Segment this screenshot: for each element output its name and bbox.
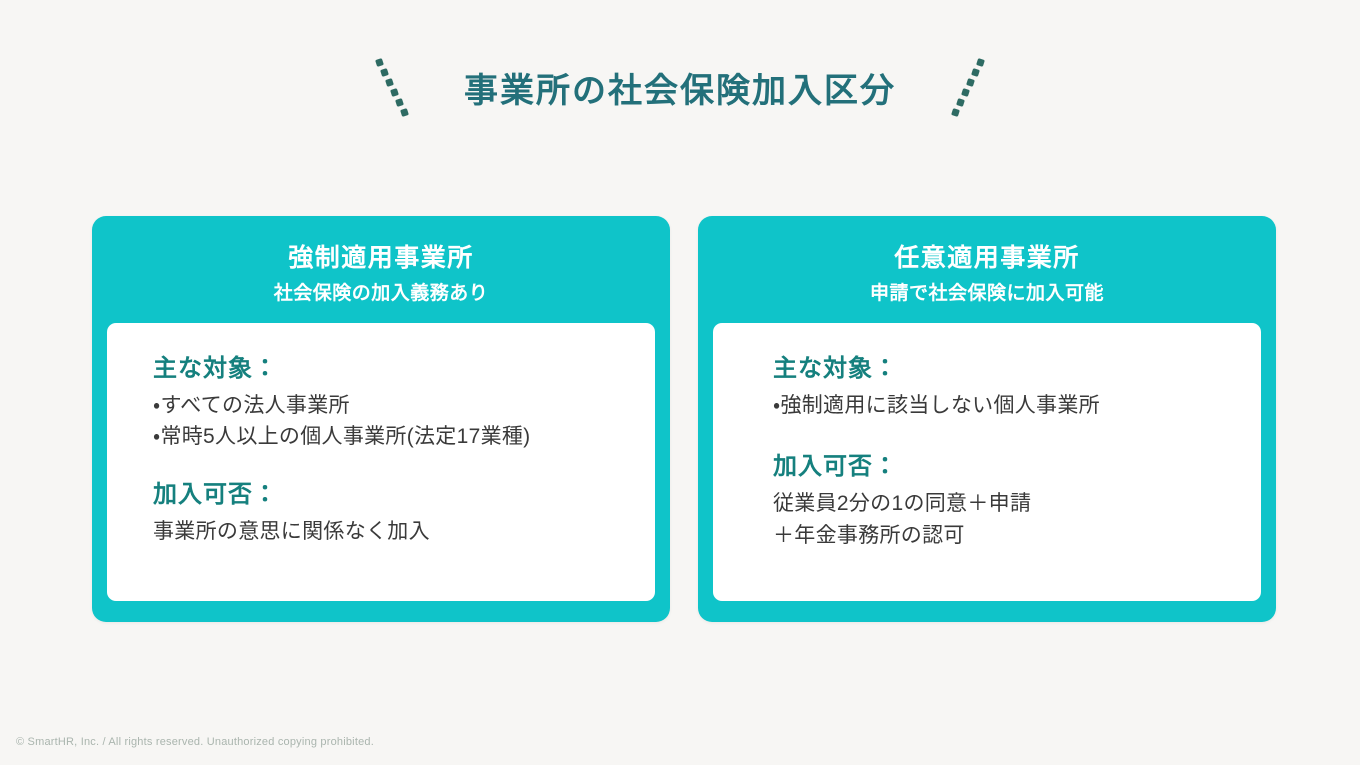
page-title: 事業所の社会保険加入区分 [464, 71, 896, 112]
slide-canvas: 事業所の社会保険加入区分 強制適用事業所 社会保険の加入義務あり 主な対象： [0, 0, 1360, 765]
section-line: ・常時5人以上の個人事業所(法定17業種) [153, 421, 655, 453]
dotted-diagonal-right-icon [942, 57, 988, 125]
section-eligibility: 加入可否： 従業員2分の1の同意＋申請 ＋年金事務所の認可 [773, 451, 1261, 551]
card-header-title: 強制適用事業所 [92, 242, 670, 275]
section-heading: 主な対象： [153, 353, 655, 385]
section-line: ・すべての法人事業所 [153, 390, 655, 422]
card-compulsory-coverage: 強制適用事業所 社会保険の加入義務あり 主な対象： ・すべての法人事業所 ・常時… [92, 216, 670, 622]
section-line: 事業所の意思に関係なく加入 [153, 516, 655, 548]
dotted-diagonal-left-icon [372, 57, 418, 125]
title-row: 事業所の社会保険加入区分 [0, 56, 1360, 126]
section-line: ・強制適用に該当しない個人事業所 [773, 390, 1261, 422]
footer-copyright: © SmartHR, Inc. / All rights reserved. U… [16, 736, 374, 748]
section-heading: 主な対象： [773, 353, 1261, 385]
section-heading: 加入可否： [773, 451, 1261, 483]
section-line: ＋年金事務所の認可 [773, 520, 1261, 552]
card-body: 主な対象： ・強制適用に該当しない個人事業所 加入可否： 従業員2分の1の同意＋… [713, 323, 1261, 601]
section-target: 主な対象： ・すべての法人事業所 ・常時5人以上の個人事業所(法定17業種) [153, 353, 655, 453]
card-body: 主な対象： ・すべての法人事業所 ・常時5人以上の個人事業所(法定17業種) 加… [107, 323, 655, 601]
section-eligibility: 加入可否： 事業所の意思に関係なく加入 [153, 479, 655, 547]
card-header-title: 任意適用事業所 [698, 242, 1276, 275]
cards-container: 強制適用事業所 社会保険の加入義務あり 主な対象： ・すべての法人事業所 ・常時… [92, 216, 1276, 622]
section-target: 主な対象： ・強制適用に該当しない個人事業所 [773, 353, 1261, 421]
card-voluntary-coverage: 任意適用事業所 申請で社会保険に加入可能 主な対象： ・強制適用に該当しない個人… [698, 216, 1276, 622]
card-header-subtitle: 社会保険の加入義務あり [92, 281, 670, 307]
card-header-subtitle: 申請で社会保険に加入可能 [698, 281, 1276, 307]
section-heading: 加入可否： [153, 479, 655, 511]
card-header: 強制適用事業所 社会保険の加入義務あり [92, 216, 670, 306]
card-header: 任意適用事業所 申請で社会保険に加入可能 [698, 216, 1276, 306]
section-line: 従業員2分の1の同意＋申請 [773, 488, 1261, 520]
